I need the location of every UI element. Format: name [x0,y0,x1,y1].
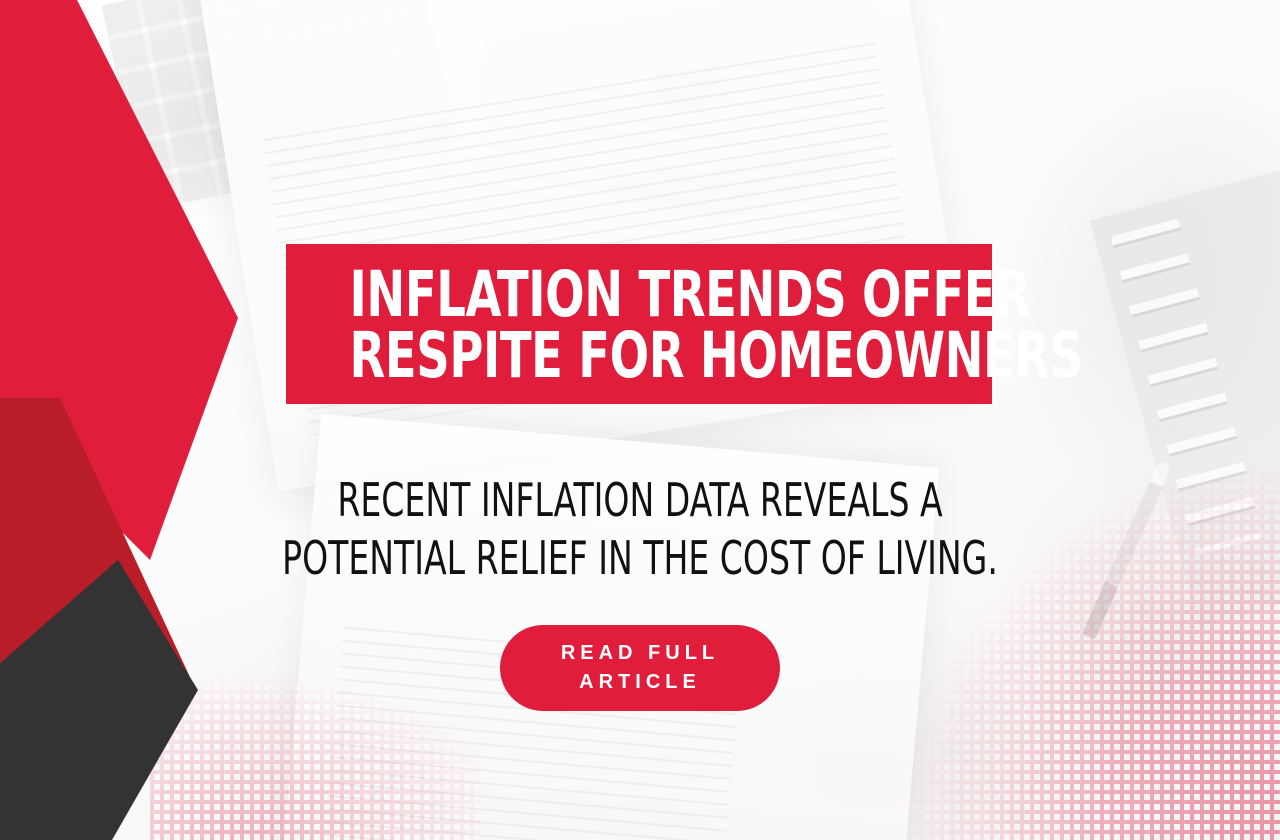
subtitle-line-2: POTENTIAL RELIEF IN THE COST OF LIVING. [128,530,1152,588]
subtitle-line-1: RECENT INFLATION DATA REVEALS A [128,472,1152,530]
subtitle: RECENT INFLATION DATA REVEALS A POTENTIA… [0,472,1280,587]
headline-line-1: INFLATION TRENDS OFFER [350,264,929,325]
headline-line-2: RESPITE FOR HOMEOWNERS [350,325,929,386]
banner-content: INFLATION TRENDS OFFER RESPITE FOR HOMEO… [0,0,1280,840]
headline-block: INFLATION TRENDS OFFER RESPITE FOR HOMEO… [286,244,992,404]
promotional-banner: INFLATION TRENDS OFFER RESPITE FOR HOMEO… [0,0,1280,840]
read-full-article-button[interactable]: READ FULL ARTICLE [500,625,780,711]
cta-label-line-1: READ FULL [561,639,719,668]
cta-label-line-2: ARTICLE [579,668,701,697]
